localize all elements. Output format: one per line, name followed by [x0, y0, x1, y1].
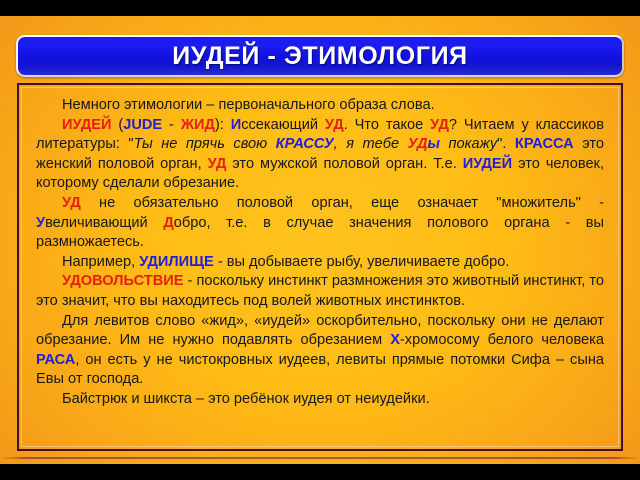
- text-run-highlight: УД: [408, 136, 428, 152]
- text-run-highlight: , я тебе: [334, 136, 408, 152]
- text-run: ):: [215, 117, 231, 133]
- paragraph: Байстрюк и шикста – это ребёнок иудея от…: [36, 390, 604, 410]
- text-run-highlight: Д: [163, 215, 173, 231]
- text-run-highlight: ЖИД: [181, 117, 215, 133]
- text-run-highlight: УДИЛИЩЕ: [139, 254, 214, 270]
- text-run-highlight: УДОВОЛЬСТВИЕ: [62, 273, 183, 289]
- text-run: Байстрюк и шикста – это ребёнок иудея от…: [62, 391, 430, 407]
- text-run-highlight: КРАССУ: [276, 136, 334, 152]
- text-run-highlight: И: [231, 117, 242, 133]
- text-run-highlight: УД: [62, 195, 81, 211]
- text-run-highlight: УД: [208, 156, 227, 172]
- text-run-highlight: ИУДЕЙ: [62, 117, 111, 133]
- text-run-highlight: ы: [428, 136, 440, 152]
- content-panel-inner: Немного этимологии – первоначального обр…: [21, 87, 619, 447]
- text-run-highlight: ИУДЕЙ: [463, 156, 512, 172]
- text-run: . Что такое: [344, 117, 431, 133]
- paragraph: УДОВОЛЬСТВИЕ - поскольку инстинкт размно…: [36, 272, 604, 311]
- text-run-highlight: JUDE: [123, 117, 162, 133]
- text-run: величивающий: [45, 215, 163, 231]
- text-run: это мужской половой орган. Т.е.: [226, 156, 462, 172]
- text-run: ссекающий: [241, 117, 325, 133]
- title-bar-container: ИУДЕЙ - ЭТИМОЛОГИЯ: [16, 35, 624, 77]
- title-bar: ИУДЕЙ - ЭТИМОЛОГИЯ: [16, 35, 624, 77]
- text-run-highlight: РАСА: [36, 352, 75, 368]
- text-run-highlight: покажу: [440, 136, 497, 152]
- text-run-highlight: КРАССА: [515, 136, 574, 152]
- paragraph: УД не обязательно половой орган, еще озн…: [36, 194, 604, 253]
- text-run: ".: [497, 136, 515, 152]
- text-run-highlight: X: [390, 332, 400, 348]
- text-run: -хромосому белого человека: [400, 332, 604, 348]
- text-run: -: [162, 117, 181, 133]
- text-run-highlight: УД: [325, 117, 344, 133]
- paragraph: Например, УДИЛИЩЕ - вы добываете рыбу, у…: [36, 253, 604, 273]
- text-run: не обязательно половой орган, еще означа…: [81, 195, 604, 211]
- text-run: Немного этимологии – первоначального обр…: [62, 97, 435, 113]
- text-run: - вы добываете рыбу, увеличиваете добро.: [214, 254, 510, 270]
- text-run-highlight: Ты не прячь свою: [134, 136, 276, 152]
- body-text: Немного этимологии – первоначального обр…: [36, 96, 604, 410]
- text-run: , он есть у не чистокровных иудеев, леви…: [36, 352, 604, 388]
- paragraph: Для левитов слово «жид», «иудей» оскорби…: [36, 312, 604, 390]
- bottom-divider: [0, 457, 640, 459]
- content-panel: Немного этимологии – первоначального обр…: [17, 83, 623, 451]
- text-run-highlight: У: [36, 215, 45, 231]
- text-run: (: [111, 117, 123, 133]
- text-run: Например,: [62, 254, 139, 270]
- page-title: ИУДЕЙ - ЭТИМОЛОГИЯ: [172, 42, 468, 71]
- paragraph: Немного этимологии – первоначального обр…: [36, 96, 604, 116]
- paragraph: ИУДЕЙ (JUDE - ЖИД): Иссекающий УД. Что т…: [36, 116, 604, 194]
- slide: ИУДЕЙ - ЭТИМОЛОГИЯ Немного этимологии – …: [0, 16, 640, 464]
- text-run-highlight: УД: [430, 117, 449, 133]
